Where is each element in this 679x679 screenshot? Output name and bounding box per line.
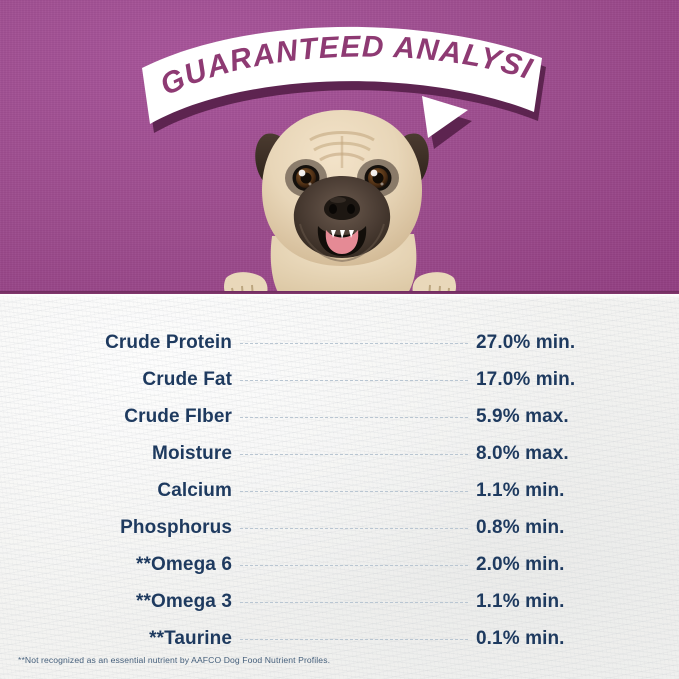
nutrient-label: Crude Fat	[0, 369, 232, 391]
leader-line	[240, 528, 468, 530]
table-row: Moisture 8.0% max.	[0, 435, 679, 472]
nutrient-value: 0.1% min.	[476, 628, 666, 650]
nutrient-value: 1.1% min.	[476, 480, 666, 502]
nutrient-label: Crude Protein	[0, 332, 232, 354]
nutrient-value: 5.9% max.	[476, 406, 666, 428]
table-row: Crude Protein 27.0% min.	[0, 324, 679, 361]
pug-dog-image	[248, 106, 436, 298]
nutrient-value: 2.0% min.	[476, 554, 666, 576]
table-row: Crude Fat 17.0% min.	[0, 361, 679, 398]
table-row: Crude FIber 5.9% max.	[0, 398, 679, 435]
table-row: **Omega 6 2.0% min.	[0, 546, 679, 583]
leader-line	[240, 639, 468, 641]
panel-top-edge	[0, 291, 679, 294]
nutrient-label: Phosphorus	[0, 517, 232, 539]
nutrient-label: **Omega 6	[0, 554, 232, 576]
nutrient-label: Crude FIber	[0, 406, 232, 428]
nutrient-value: 27.0% min.	[476, 332, 666, 354]
nutrient-value: 0.8% min.	[476, 517, 666, 539]
table-row: Phosphorus 0.8% min.	[0, 509, 679, 546]
nutrient-value: 1.1% min.	[476, 591, 666, 613]
leader-line	[240, 565, 468, 567]
nutrient-label: Moisture	[0, 443, 232, 465]
nutrient-label: **Taurine	[0, 628, 232, 650]
guaranteed-analysis-table: Crude Protein 27.0% min. Crude Fat 17.0%…	[0, 324, 679, 657]
table-row: Calcium 1.1% min.	[0, 472, 679, 509]
leader-line	[240, 417, 468, 419]
leader-line	[240, 380, 468, 382]
leader-line	[240, 343, 468, 345]
table-row: **Taurine 0.1% min.	[0, 620, 679, 657]
table-row: **Omega 3 1.1% min.	[0, 583, 679, 620]
guaranteed-analysis-panel: GUARANTEED ANALYSIS Crude Protein 27.0% …	[0, 0, 679, 679]
aafco-footnote: **Not recognized as an essential nutrien…	[18, 655, 330, 665]
leader-line	[240, 491, 468, 493]
leader-line	[240, 602, 468, 604]
nutrient-label: Calcium	[0, 480, 232, 502]
leader-line	[240, 454, 468, 456]
nutrient-label: **Omega 3	[0, 591, 232, 613]
nutrient-value: 17.0% min.	[476, 369, 666, 391]
nutrient-value: 8.0% max.	[476, 443, 666, 465]
